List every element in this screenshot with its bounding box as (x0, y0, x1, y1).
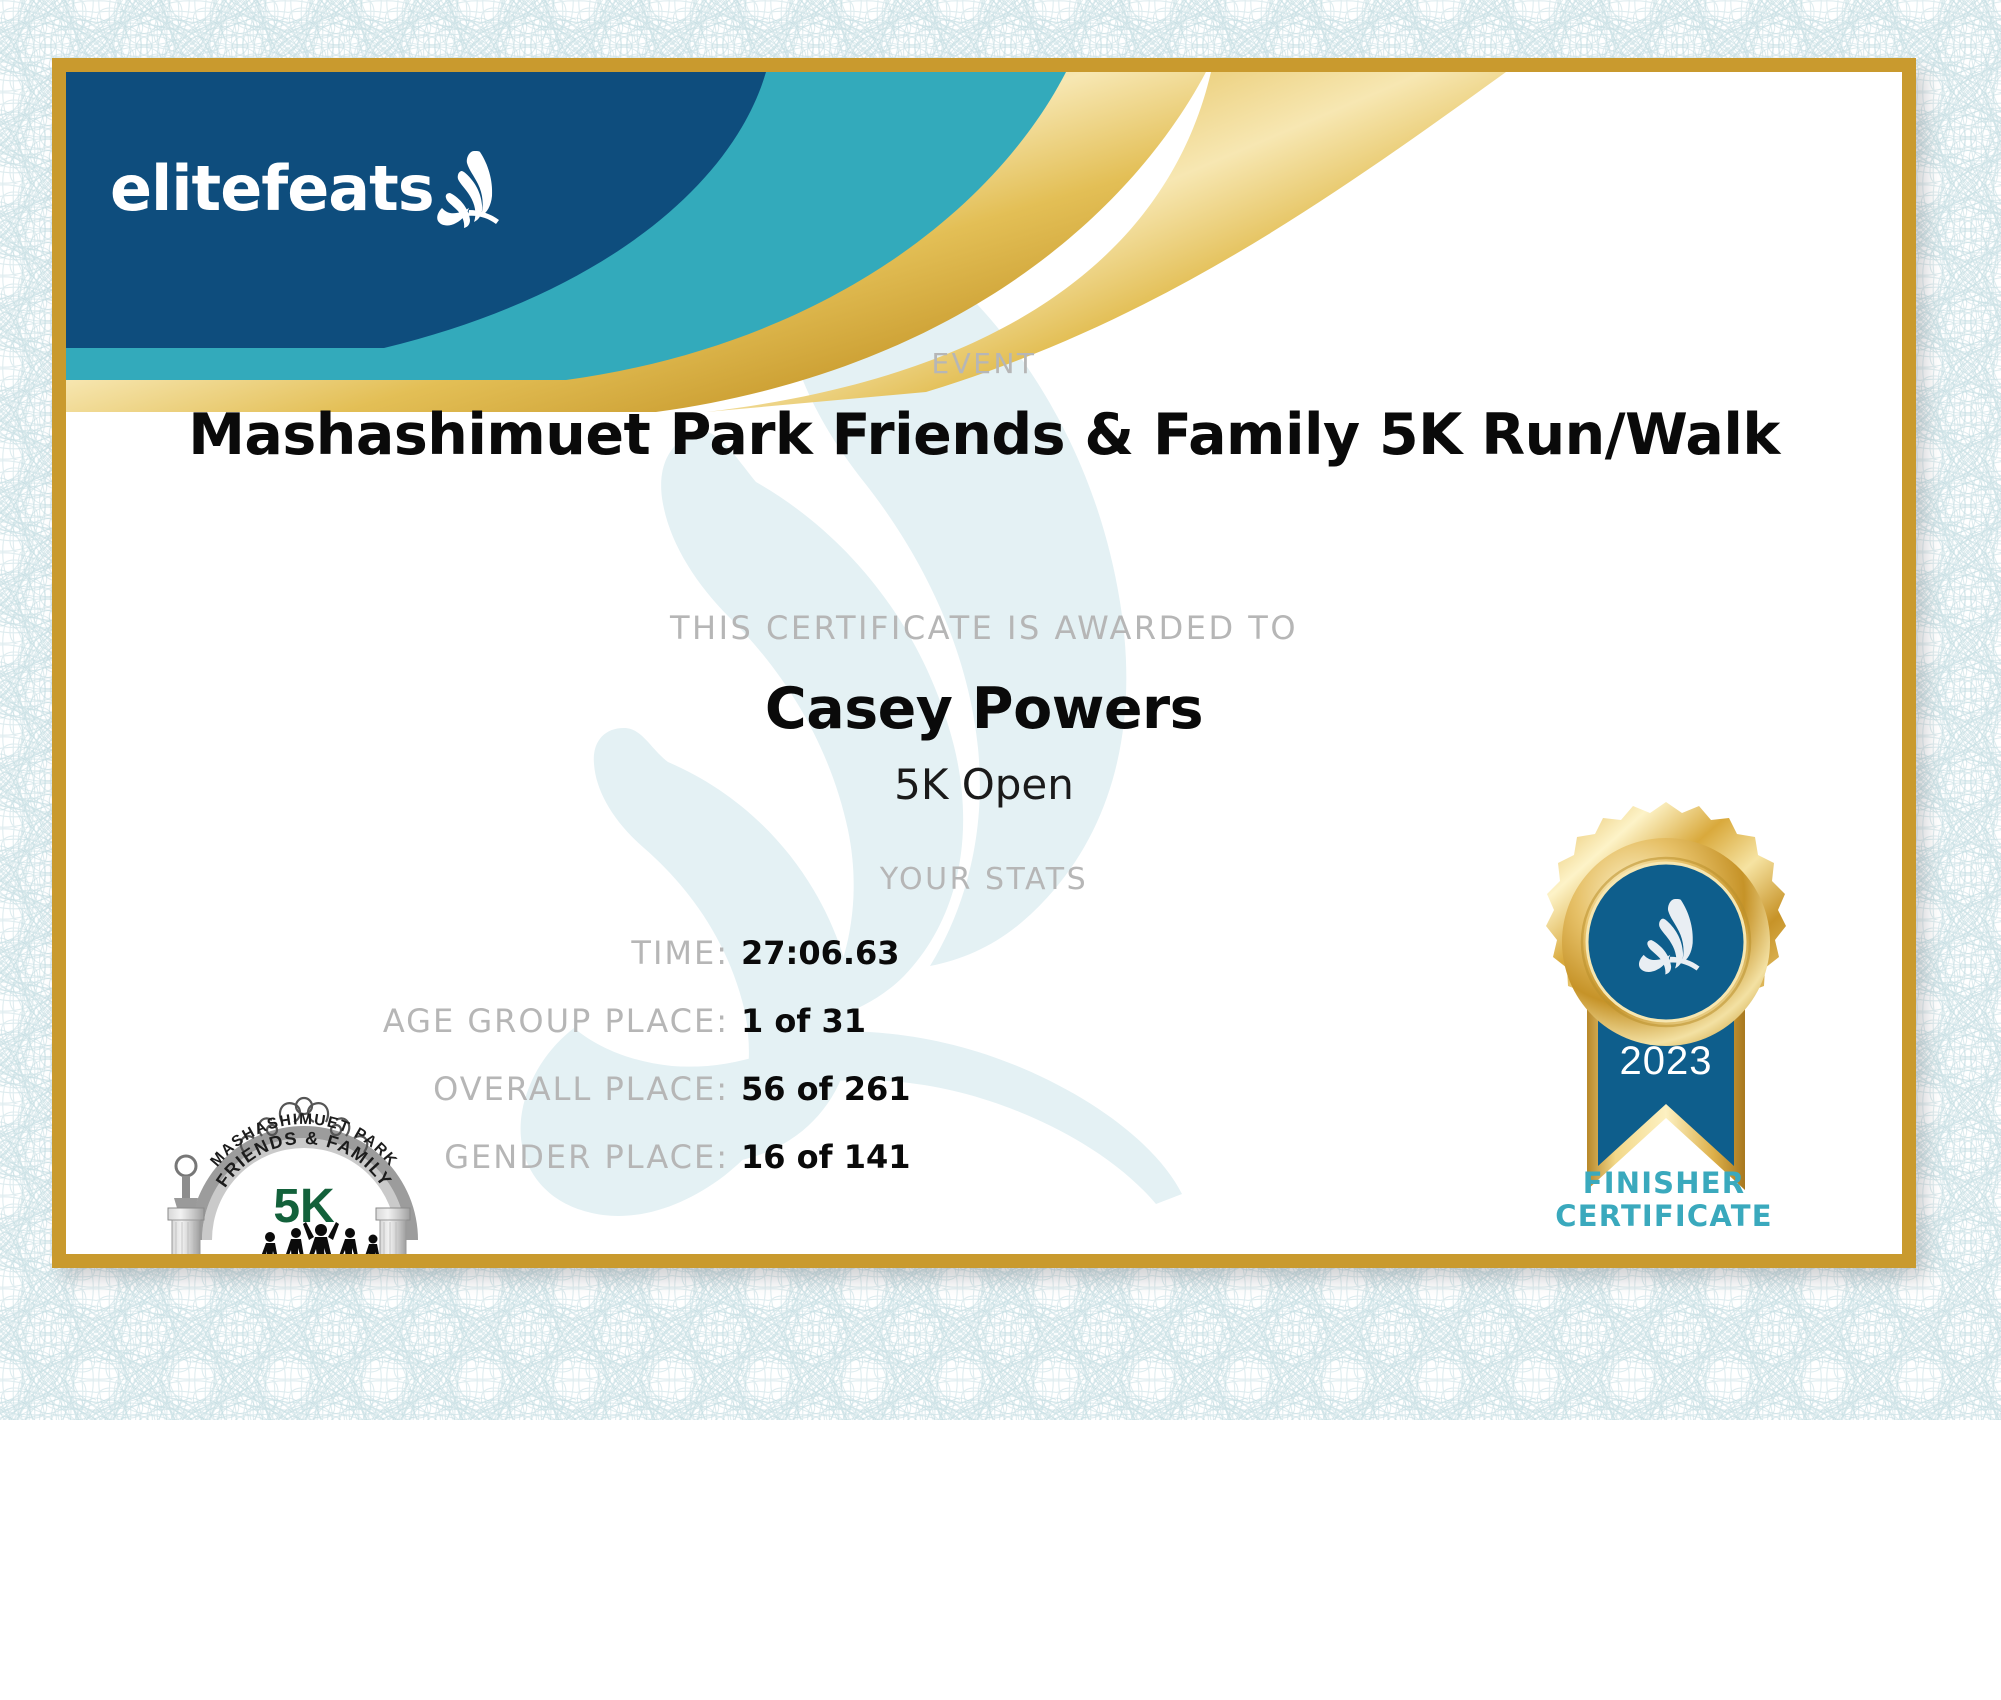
stat-value: 56 of 261 (741, 1070, 921, 1108)
stat-key: AGE GROUP PLACE: (383, 1002, 729, 1040)
stat-key: TIME: (631, 934, 729, 972)
stat-value: 1 of 31 (741, 1002, 921, 1040)
elitefeats-logo: elitefeats (110, 150, 510, 228)
stat-value: 16 of 141 (741, 1138, 921, 1176)
finisher-certificate-caption: FINISHER CERTIFICATE (1504, 1167, 1824, 1234)
brand-wordmark: elitefeats (110, 158, 434, 220)
winged-foot-icon (436, 150, 510, 228)
race-arch-logo: MASHASHIMUET PARK FRIENDS & FAMILY 5K (144, 1082, 434, 1254)
event-name: Mashashimuet Park Friends & Family 5K Ru… (66, 402, 1902, 468)
event-label: EVENT (66, 347, 1902, 380)
stat-key: OVERALL PLACE: (433, 1070, 729, 1108)
stat-row-time: TIME: 27:06.63 (66, 934, 921, 1002)
certificate-inner: elitefeats EVENT Mashashimuet Park Frien… (66, 72, 1902, 1254)
finisher-caption-line1: FINISHER (1504, 1167, 1824, 1200)
arch-pillar-right (376, 1208, 410, 1254)
stat-row-age-group-place: AGE GROUP PLACE: 1 of 31 (66, 1002, 921, 1070)
stat-key: GENDER PLACE: (444, 1138, 729, 1176)
certificate-frame: elitefeats EVENT Mashashimuet Park Frien… (52, 58, 1916, 1268)
certificate-content: EVENT Mashashimuet Park Friends & Family… (66, 72, 1902, 1254)
awarded-to-label: THIS CERTIFICATE IS AWARDED TO (66, 609, 1902, 647)
certificate-page: elitefeats EVENT Mashashimuet Park Frien… (0, 0, 2001, 1700)
medal-rosette (1546, 802, 1786, 1046)
finisher-caption-line2: CERTIFICATE (1504, 1200, 1824, 1233)
recipient-name: Casey Powers (66, 676, 1902, 742)
stat-value: 27:06.63 (741, 934, 921, 972)
runner-silhouettes (244, 1222, 390, 1254)
